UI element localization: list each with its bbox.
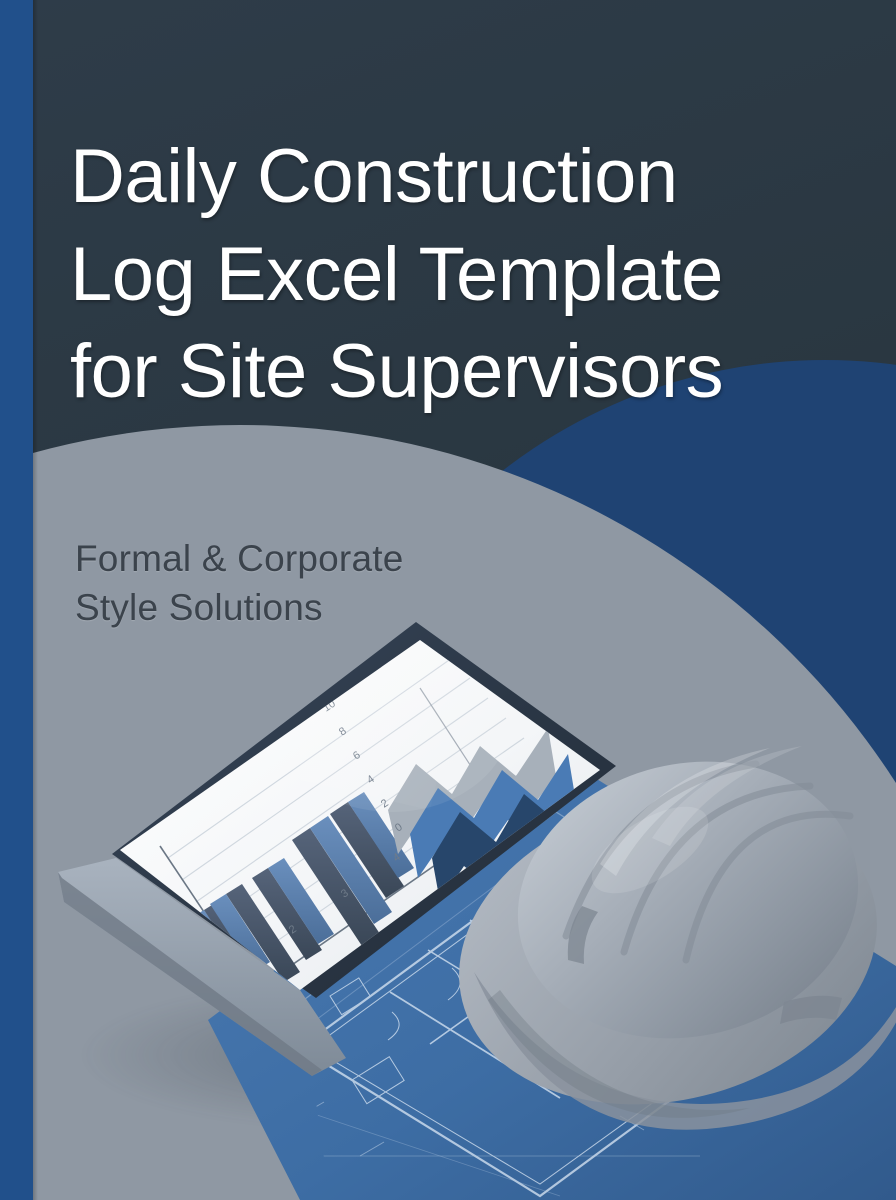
title-line-2: Log Excel Template [70, 236, 860, 314]
chart-ytick-120: 120 [65, 822, 87, 842]
chart-xtick-0: 0 [181, 995, 193, 1008]
chart-y2tick-12: 12 [307, 674, 324, 691]
page-subtitle: Formal & Corporate Style Solutions [75, 535, 595, 633]
title-line-1: Daily Construction [70, 138, 860, 216]
subtitle-line-2: Style Solutions [75, 584, 595, 633]
title-line-3: for Site Supervisors [70, 333, 860, 411]
cover-page: 0 20 40 60 80 100 120 0 1 2 3 4 [0, 0, 896, 1200]
page-title: Daily Construction Log Excel Template fo… [70, 138, 860, 411]
subtitle-line-1: Formal & Corporate [75, 535, 595, 584]
left-accent-stripe [0, 0, 33, 1200]
left-accent-stripe-shadow [33, 0, 38, 1200]
chart-ytick-100: 100 [79, 844, 101, 864]
